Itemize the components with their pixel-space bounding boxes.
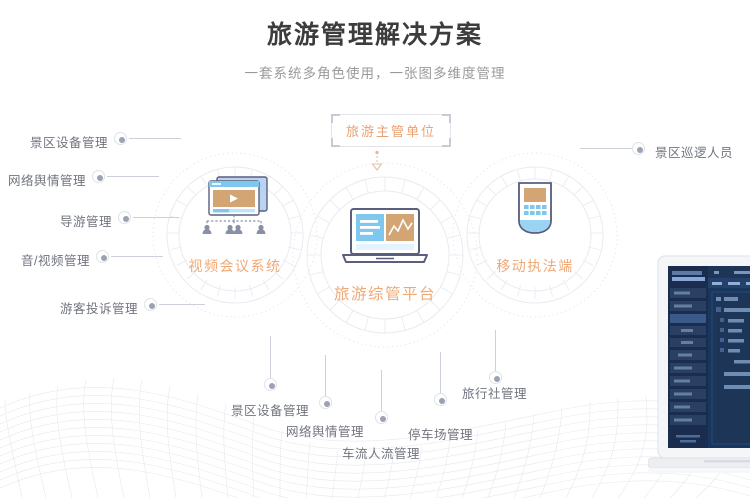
connector-line: [159, 304, 205, 305]
connector-dot: [264, 378, 277, 391]
connector-line: [381, 370, 382, 411]
node-tourism-platform-label: 旅游综管平台: [290, 282, 480, 304]
infographic-canvas: 旅游管理解决方案 一套系统多角色使用，一张图多维度管理 旅游主管单位: [0, 0, 750, 498]
connector-line: [129, 138, 181, 139]
connector-line: [440, 352, 441, 393]
left-label-1: 网络舆情管理: [0, 170, 86, 189]
corner-bracket-bl-icon: [331, 138, 340, 147]
top-authority-badge[interactable]: 旅游主管单位: [331, 114, 451, 147]
video-window-icon: [195, 174, 275, 236]
left-label-3: 音/视频管理: [0, 250, 90, 269]
connector-dot: [118, 211, 131, 224]
connector-dot: [434, 393, 447, 406]
connector-line: [270, 336, 271, 378]
connector-dot: [375, 411, 388, 424]
connector-line: [133, 217, 179, 218]
connector-line: [107, 176, 159, 177]
dashboard-laptop-mockup: [648, 252, 750, 498]
bottom-label-0: 景区设备管理: [231, 400, 309, 419]
right-label-0: 景区巡逻人员: [655, 142, 733, 161]
connector-dot: [144, 298, 157, 311]
top-authority-badge-label: 旅游主管单位: [346, 124, 436, 139]
page-title: 旅游管理解决方案: [0, 22, 750, 50]
corner-bracket-tr-icon: [442, 114, 451, 123]
connector-line: [580, 148, 632, 149]
bottom-label-4: 旅行社管理: [462, 383, 527, 402]
left-label-4: 游客投诉管理: [30, 298, 138, 317]
connector-dot: [92, 170, 105, 183]
bottom-label-2: 车流人流管理: [342, 443, 420, 462]
connector-line: [111, 256, 163, 257]
connector-dot: [114, 132, 127, 145]
left-label-2: 导游管理: [4, 211, 112, 230]
left-label-0: 景区设备管理: [0, 132, 108, 151]
bottom-label-3: 停车场管理: [408, 424, 473, 443]
connector-line: [495, 330, 496, 371]
header: 旅游管理解决方案 一套系统多角色使用，一张图多维度管理: [0, 22, 750, 82]
corner-bracket-tl-icon: [331, 114, 340, 123]
page-subtitle: 一套系统多角色使用，一张图多维度管理: [0, 62, 750, 82]
corner-bracket-br-icon: [442, 138, 451, 147]
laptop-dashboard-icon: [338, 207, 432, 269]
bottom-label-1: 网络舆情管理: [286, 421, 364, 440]
connector-line: [325, 355, 326, 396]
handheld-device-icon: [511, 180, 559, 238]
connector-dot: [319, 396, 332, 409]
connector-dot: [96, 250, 109, 263]
connector-dot: [632, 142, 645, 155]
top-authority-badge-wrap: 旅游主管单位: [331, 114, 451, 147]
node-tourism-platform[interactable]: 旅游综管平台: [290, 160, 480, 350]
